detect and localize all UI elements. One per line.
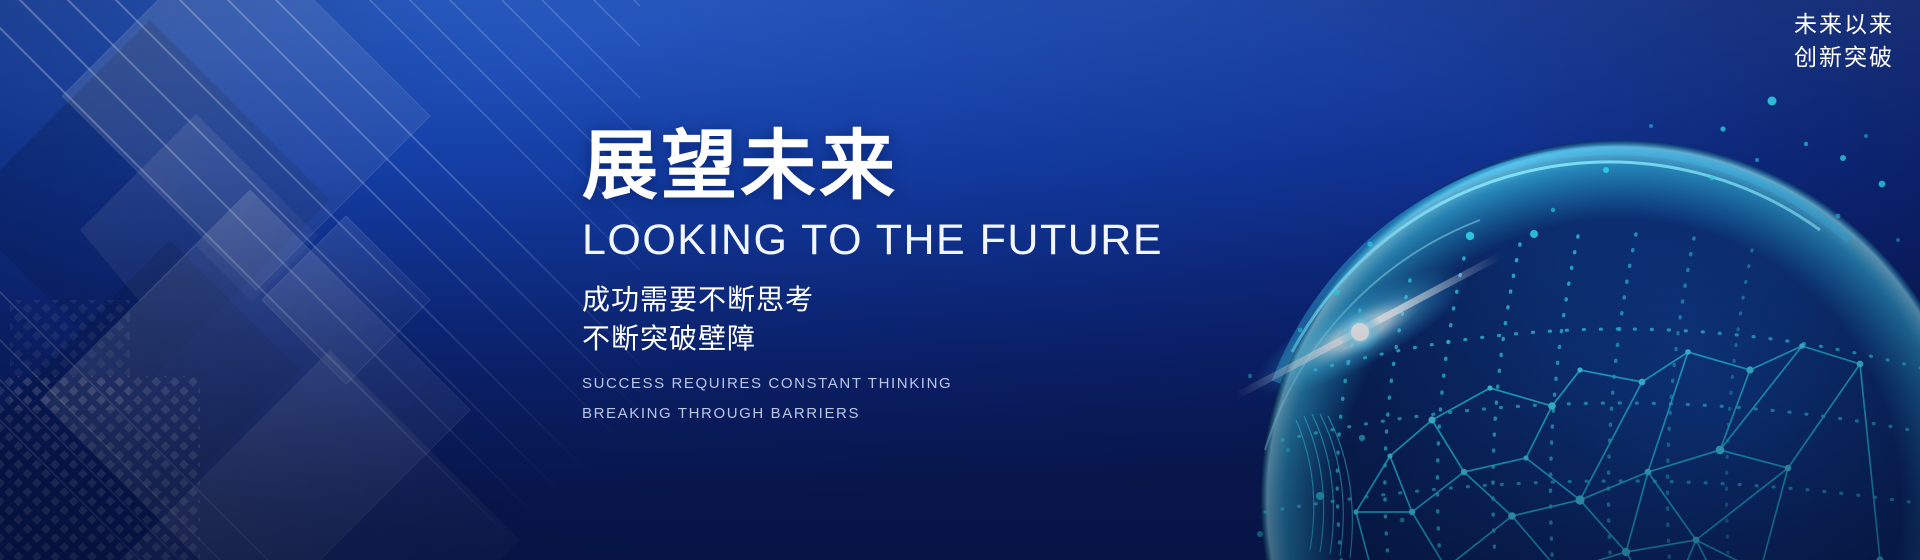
subtitle-en-group: SUCCESS REQUIRES CONSTANT THINKING BREAK… [582, 369, 1142, 429]
headline-block: 展望未来 LOOKING TO THE FUTURE 成功需要不断思考 不断突破… [582, 128, 1142, 429]
subtitle-en-line-1: SUCCESS REQUIRES CONSTANT THINKING [582, 369, 1142, 399]
corner-slogan-line-2: 创新突破 [1794, 41, 1894, 74]
subtitle-cn-group: 成功需要不断思考 不断突破壁障 [582, 280, 1142, 360]
page-title-cn: 展望未来 [582, 128, 1142, 206]
page-title-en: LOOKING TO THE FUTURE [582, 216, 1142, 264]
corner-slogan: 未来以来 创新突破 [1794, 8, 1894, 75]
banner-root: 未来以来 创新突破 展望未来 LOOKING TO THE FUTURE 成功需… [0, 0, 1920, 560]
subtitle-en-line-2: BREAKING THROUGH BARRIERS [582, 399, 1142, 429]
subtitle-cn-line-2: 不断突破壁障 [582, 319, 1142, 359]
corner-slogan-line-1: 未来以来 [1794, 8, 1894, 41]
subtitle-cn-line-1: 成功需要不断思考 [582, 280, 1142, 320]
